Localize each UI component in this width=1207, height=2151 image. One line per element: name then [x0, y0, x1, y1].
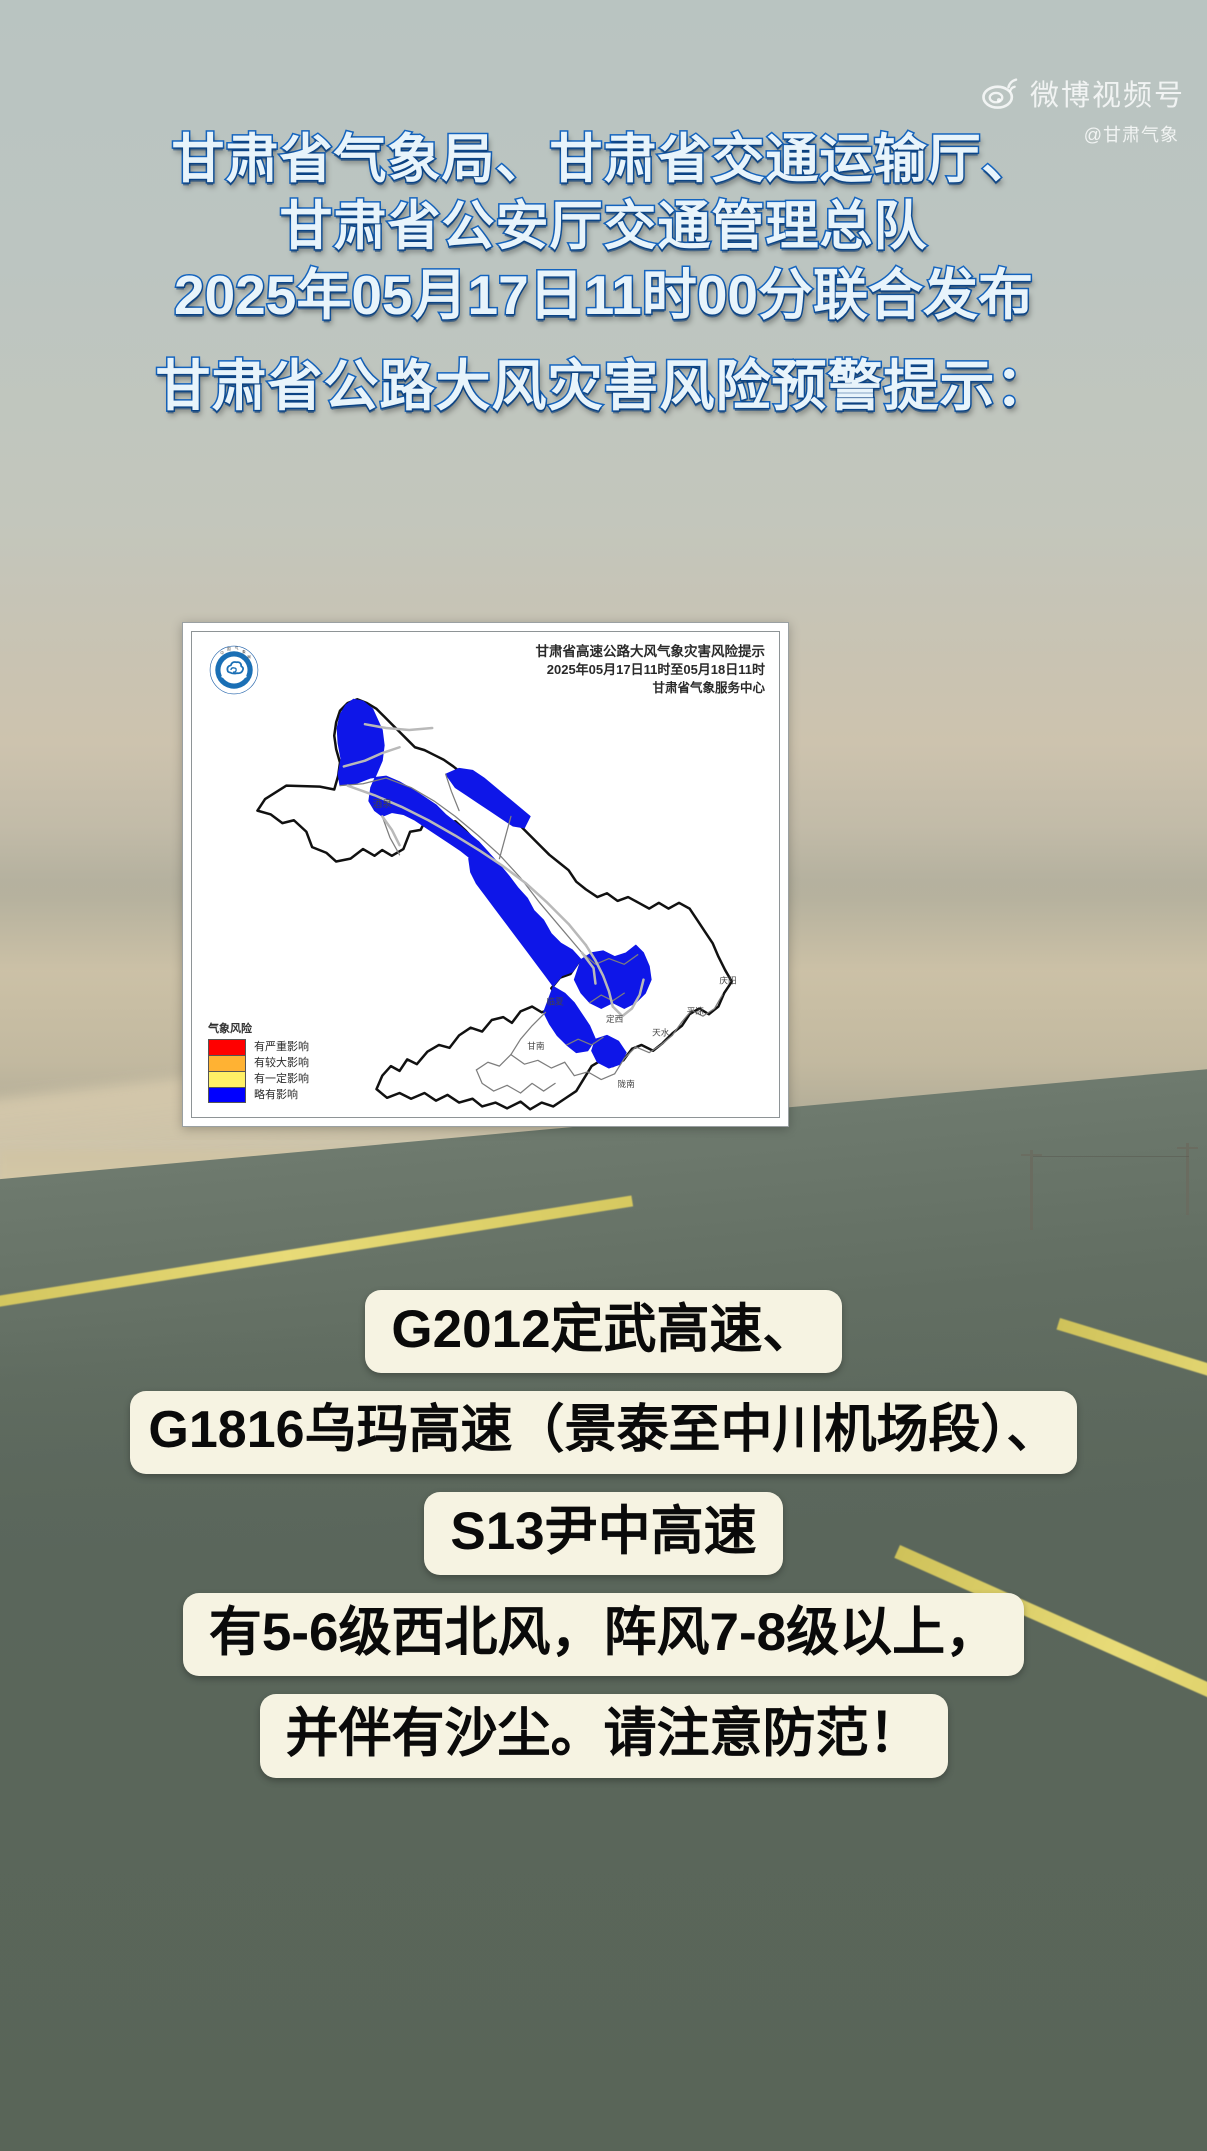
legend-swatches — [208, 1039, 246, 1103]
utility-pole-2 — [1186, 1143, 1189, 1215]
caption-row: 有5-6级西北风，阵风7-8级以上， — [0, 1593, 1207, 1676]
legend-swatch-severe — [208, 1039, 246, 1055]
caption-bubble-2: G1816乌玛高速（景泰至中川机场段）、 — [130, 1391, 1076, 1473]
headline-line-1: 甘肃省气象局、甘肃省交通运输厅、 — [0, 130, 1207, 189]
caption-row: S13尹中高速 — [0, 1492, 1207, 1575]
legend-label-severe: 有严重影响 — [254, 1039, 309, 1055]
caption-bubble-5: 并伴有沙尘。请注意防范！ — [260, 1694, 948, 1777]
caption-bubble-3: S13尹中高速 — [424, 1492, 782, 1575]
legend-label-moderate: 有一定影响 — [254, 1071, 309, 1087]
legend-swatch-slight — [208, 1087, 246, 1103]
city-label-pingliang: 平凉 — [687, 1005, 705, 1016]
legend-label-slight: 略有影响 — [254, 1087, 309, 1103]
legend-swatch-major — [208, 1055, 246, 1071]
legend-label-major: 有较大影响 — [254, 1055, 309, 1071]
caption-stack: G2012定武高速、 G1816乌玛高速（景泰至中川机场段）、 S13尹中高速 … — [0, 1290, 1207, 1796]
legend-swatch-moderate — [208, 1071, 246, 1087]
utility-pole-1 — [1030, 1150, 1033, 1230]
headline-line-4: 甘肃省公路大风灾害风险预警提示： — [0, 356, 1207, 418]
city-label-linxia: 临夏 — [546, 996, 564, 1007]
city-label-gannan: 甘南 — [527, 1040, 545, 1051]
risk-map-inner-frame: 中国 气象局 甘肃省高速公路大风气象灾害风险提示 2025年05月17日11时至… — [191, 631, 780, 1118]
headline-block: 甘肃省气象局、甘肃省交通运输厅、 甘肃省公安厅交通管理总队 2025年05月17… — [0, 130, 1207, 426]
city-label-qingyang: 庆阳 — [719, 975, 736, 986]
caption-row: 并伴有沙尘。请注意防范！ — [0, 1694, 1207, 1777]
headline-line-2: 甘肃省公安厅交通管理总队 — [0, 197, 1207, 256]
caption-bubble-1: G2012定武高速、 — [365, 1290, 841, 1373]
power-wire — [1033, 1156, 1189, 1157]
legend-title: 气象风险 — [208, 1020, 309, 1036]
risk-legend: 气象风险 有严重影响 有较大影响 有一定影响 略有影响 — [208, 1020, 309, 1103]
caption-row: G2012定武高速、 — [0, 1290, 1207, 1373]
risk-map-panel: 中国 气象局 甘肃省高速公路大风气象灾害风险提示 2025年05月17日11时至… — [182, 622, 789, 1127]
city-label-dingxi: 定西 — [606, 1013, 624, 1024]
headline-line-3: 2025年05月17日11时00分联合发布 — [0, 265, 1207, 327]
caption-row: G1816乌玛高速（景泰至中川机场段）、 — [0, 1391, 1207, 1473]
city-label-tianshui: 天水 — [652, 1026, 670, 1037]
video-frame: 微博视频号 @甘肃气象 甘肃省气象局、甘肃省交通运输厅、 甘肃省公安厅交通管理总… — [0, 0, 1207, 2151]
legend-labels: 有严重影响 有较大影响 有一定影响 略有影响 — [254, 1039, 309, 1103]
city-label-jiuquan: 酒泉 — [373, 798, 393, 810]
caption-bubble-4: 有5-6级西北风，阵风7-8级以上， — [183, 1593, 1024, 1676]
city-label-longnan: 陇南 — [618, 1078, 636, 1089]
